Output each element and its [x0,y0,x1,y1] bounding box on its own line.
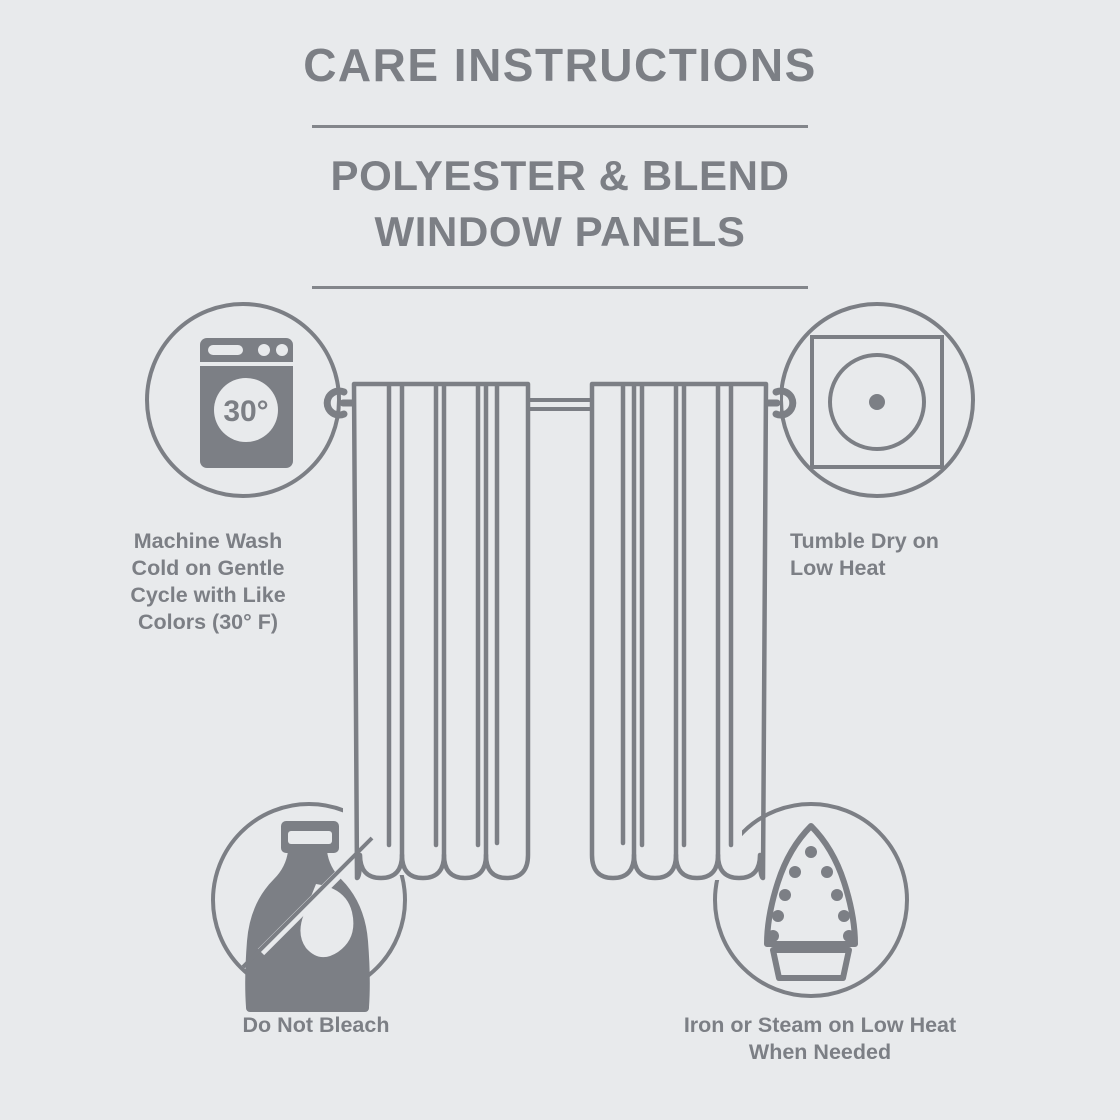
caption-line: Cold on Gentle [80,555,336,582]
caption-machine-wash: Machine Wash Cold on Gentle Cycle with L… [80,528,336,636]
caption-line: Tumble Dry on [790,528,1050,555]
care-instructions-infographic: CARE INSTRUCTIONS POLYESTER & BLEND WIND… [0,0,1120,1120]
tumble-dry-center-dot [869,394,885,410]
caption-do-not-bleach: Do Not Bleach [178,1012,454,1039]
caption-line: Machine Wash [80,528,336,555]
iron-ring [715,804,907,996]
machine-wash-symbol: 30° [147,304,339,496]
caption-line: Do Not Bleach [178,1012,454,1039]
caption-line: Low Heat [790,555,1050,582]
caption-line: Colors (30° F) [80,609,336,636]
caption-line: Iron or Steam on Low Heat [600,1012,1040,1039]
caption-tumble-dry: Tumble Dry on Low Heat [790,528,1050,582]
tumble-dry-symbol [781,304,973,496]
wash-temp-label: 30° [223,395,268,428]
curtain-panel-left [354,384,528,878]
curtain-rod-center [528,400,594,409]
curtain-panels-illustration [327,384,793,878]
caption-line: Cycle with Like [80,582,336,609]
iron-steam-holes [767,846,855,942]
curtain-panel-right [592,384,766,878]
caption-iron: Iron or Steam on Low Heat When Needed [600,1012,1040,1066]
iron-symbol [715,804,907,996]
caption-line: When Needed [600,1039,1040,1066]
bleach-bottle-icon [245,821,370,1012]
